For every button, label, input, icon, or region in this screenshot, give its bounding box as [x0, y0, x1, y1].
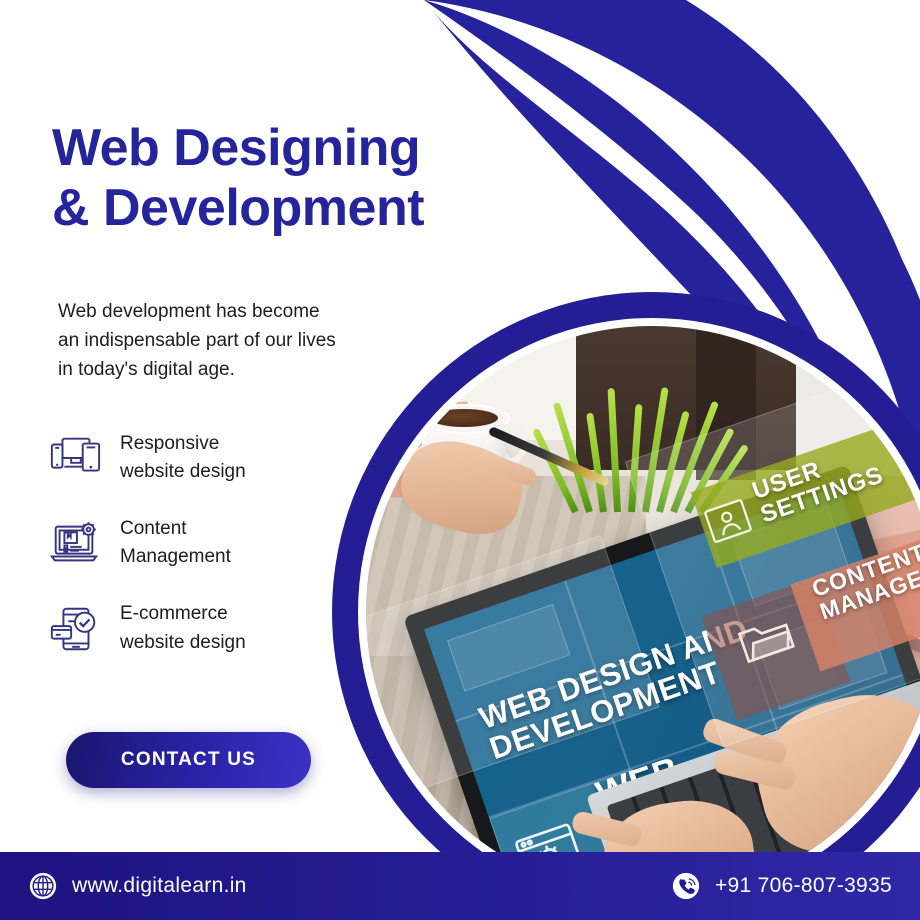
- website-url: www.digitalearn.in: [72, 874, 247, 898]
- globe-icon: [28, 871, 58, 901]
- contact-us-button[interactable]: CONTACT US: [66, 732, 311, 788]
- feature-item-responsive: Responsive website design: [48, 430, 378, 486]
- page-title: Web Designing & Development: [52, 118, 492, 239]
- feature-item-content-management: Content Management: [48, 515, 378, 571]
- phone-icon: [671, 871, 701, 901]
- footer-phone[interactable]: +91 706-807-3935: [671, 871, 892, 901]
- phone-number: +91 706-807-3935: [715, 874, 892, 898]
- feature-item-ecommerce: E-commerce website design: [48, 600, 378, 656]
- feature-label: Responsive website design: [120, 430, 246, 486]
- feature-list: Responsive website design: [48, 430, 378, 686]
- hero-photo: WEB DESIGN AND DEVELOPMENT WEB DEVELOP: [366, 326, 920, 898]
- footer-website[interactable]: www.digitalearn.in: [28, 871, 247, 901]
- poster-canvas: Web Designing & Development Web developm…: [0, 0, 920, 920]
- responsive-devices-icon: [48, 431, 102, 485]
- mobile-payment-check-icon: [48, 602, 102, 656]
- feature-label: E-commerce website design: [120, 600, 246, 656]
- footer-bar: www.digitalearn.in +91 706-807-3935: [0, 852, 920, 920]
- hero-photo-circle: WEB DESIGN AND DEVELOPMENT WEB DEVELOP: [332, 292, 920, 920]
- feature-label: Content Management: [120, 515, 231, 571]
- laptop-gear-icon: [48, 516, 102, 570]
